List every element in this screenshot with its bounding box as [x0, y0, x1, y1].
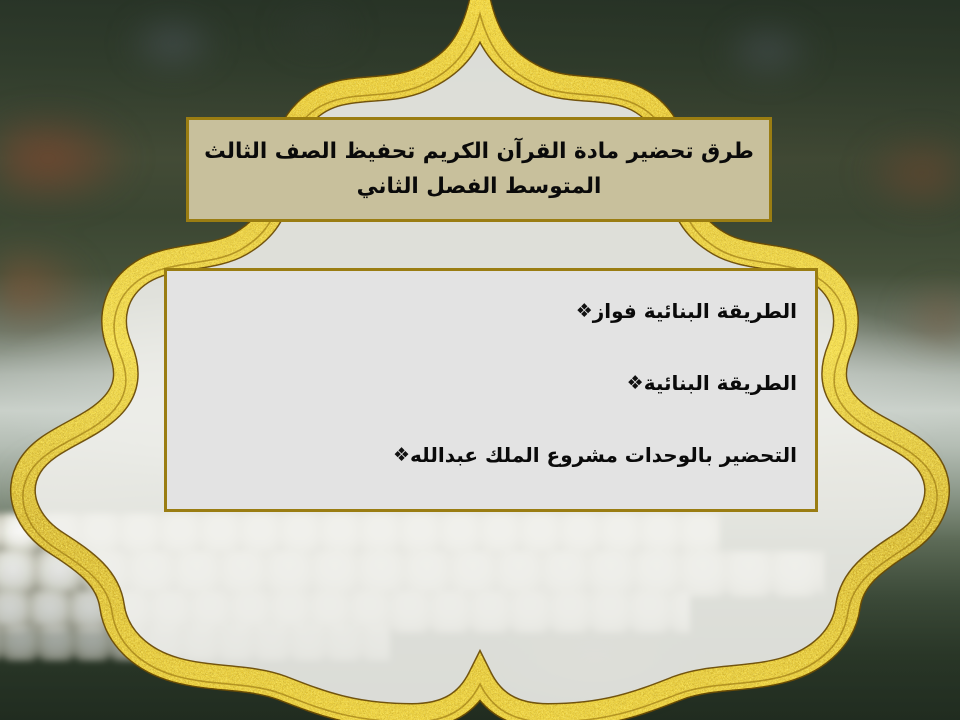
diamond-bullet-icon: ❖: [393, 446, 410, 465]
page-title: طرق تحضير مادة القرآن الكريم تحفيظ الصف …: [203, 135, 755, 205]
list-item: التحضير بالوحدات مشروع الملك عبدالله ❖: [185, 443, 797, 468]
diamond-bullet-icon: ❖: [576, 302, 593, 321]
diamond-bullet-icon: ❖: [627, 374, 644, 393]
slide-title-box: طرق تحضير مادة القرآن الكريم تحفيظ الصف …: [186, 117, 772, 222]
bullet-list: الطريقة البنائية فواز ❖ الطريقة البنائية…: [185, 299, 797, 468]
list-item-label: التحضير بالوحدات مشروع الملك عبدالله: [410, 443, 797, 468]
slide-content-box: الطريقة البنائية فواز ❖ الطريقة البنائية…: [164, 268, 818, 512]
list-item: الطريقة البنائية ❖: [185, 371, 797, 396]
presentation-slide: طرق تحضير مادة القرآن الكريم تحفيظ الصف …: [0, 0, 960, 720]
list-item: الطريقة البنائية فواز ❖: [185, 299, 797, 324]
list-item-label: الطريقة البنائية: [644, 371, 797, 396]
list-item-label: الطريقة البنائية فواز: [593, 299, 797, 324]
